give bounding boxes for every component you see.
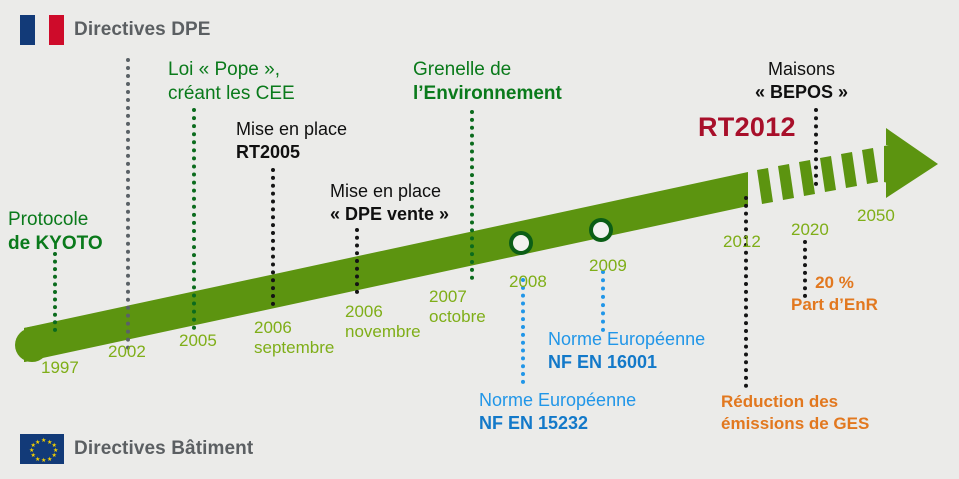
connector-2002 xyxy=(126,58,130,350)
note-nf-en-16001-line1: Norme Européenne xyxy=(548,328,705,351)
year-label-2006-septembre-year: 2006 xyxy=(254,318,292,337)
note-dpe-vente-line1: Mise en place xyxy=(330,180,449,203)
note-reduction-ges-line1: Réduction des xyxy=(721,391,869,413)
year-label-2050: 2050 xyxy=(857,206,895,226)
connector-2006-novembre xyxy=(355,228,359,294)
note-loi-pope: Loi « Pope », créant les CEE xyxy=(168,58,295,107)
connector-2007-octobre xyxy=(470,110,474,280)
note-loi-pope-line2: créant les CEE xyxy=(168,82,295,106)
legend-batiment: ★ ★ ★ ★ ★ ★ ★ ★ ★ ★ ★ ★ Directives Bâtim… xyxy=(20,434,253,464)
note-kyoto-line2: de KYOTO xyxy=(8,232,103,256)
year-label-2006-novembre-month: novembre xyxy=(345,322,421,342)
note-reduction-ges: Réduction des émissions de GES xyxy=(721,391,869,435)
timeline-marker-2008 xyxy=(509,231,533,255)
year-label-2006-novembre-year: 2006 xyxy=(345,302,383,321)
note-loi-pope-line1: Loi « Pope », xyxy=(168,58,295,82)
connector-2012 xyxy=(744,196,748,388)
year-label-2006-septembre-month: septembre xyxy=(254,338,334,358)
note-part-enr-line1: 20 % xyxy=(791,272,878,294)
year-label-2006-septembre: 2006 septembre xyxy=(254,318,334,359)
connector-1997 xyxy=(53,252,57,332)
note-bepos: Maisons « BEPOS » xyxy=(755,58,848,104)
note-nf-en-16001: Norme Européenne NF EN 16001 xyxy=(548,328,705,374)
note-part-enr: 20 % Part d’EnR xyxy=(791,272,878,316)
note-nf-en-16001-line2: NF EN 16001 xyxy=(548,351,705,374)
connector-2006-septembre xyxy=(271,168,275,306)
year-label-2007-octobre: 2007 octobre xyxy=(429,287,486,328)
note-rt2005-line2: RT2005 xyxy=(236,141,347,164)
note-grenelle-line1: Grenelle de xyxy=(413,58,562,82)
note-bepos-line2: « BEPOS » xyxy=(755,81,848,104)
note-grenelle: Grenelle de l’Environnement xyxy=(413,58,562,107)
legend-dpe-label: Directives DPE xyxy=(74,19,211,41)
note-nf-en-15232: Norme Européenne NF EN 15232 xyxy=(479,389,636,435)
fr-flag-icon xyxy=(20,15,64,45)
note-grenelle-line2: l’Environnement xyxy=(413,82,562,106)
year-label-2008: 2008 xyxy=(509,272,547,292)
year-label-2020: 2020 xyxy=(791,220,829,240)
eu-flag-icon: ★ ★ ★ ★ ★ ★ ★ ★ ★ ★ ★ ★ xyxy=(20,434,64,464)
year-label-1997: 1997 xyxy=(41,358,79,378)
year-label-2007-octobre-month: octobre xyxy=(429,307,486,327)
note-kyoto-line1: Protocole xyxy=(8,208,103,232)
year-label-2012: 2012 xyxy=(723,232,761,252)
legend-batiment-label: Directives Bâtiment xyxy=(74,438,253,460)
note-dpe-vente: Mise en place « DPE vente » xyxy=(330,180,449,226)
note-part-enr-line2: Part d’EnR xyxy=(791,294,878,316)
year-label-2007-octobre-year: 2007 xyxy=(429,287,467,306)
note-rt2005-line1: Mise en place xyxy=(236,118,347,141)
note-nf-en-15232-line2: NF EN 15232 xyxy=(479,412,636,435)
year-label-2005: 2005 xyxy=(179,331,217,351)
connector-2020-top xyxy=(814,108,818,186)
note-nf-en-15232-line1: Norme Européenne xyxy=(479,389,636,412)
note-dpe-vente-line2: « DPE vente » xyxy=(330,203,449,226)
year-label-2002: 2002 xyxy=(108,342,146,362)
legend-dpe: Directives DPE xyxy=(20,15,211,45)
note-bepos-line1: Maisons xyxy=(755,58,848,81)
connector-2009 xyxy=(601,270,605,332)
connector-2005 xyxy=(192,108,196,330)
timeline-marker-2009 xyxy=(589,218,613,242)
note-rt2012: RT2012 xyxy=(698,112,796,143)
year-label-2009: 2009 xyxy=(589,256,627,276)
note-rt2005: Mise en place RT2005 xyxy=(236,118,347,164)
note-kyoto: Protocole de KYOTO xyxy=(8,208,103,257)
note-reduction-ges-line2: émissions de GES xyxy=(721,413,869,435)
connector-2008 xyxy=(521,278,525,384)
infographic-canvas: Directives DPE ★ ★ ★ ★ ★ ★ ★ ★ ★ ★ ★ ★ D… xyxy=(0,0,959,479)
year-label-2006-novembre: 2006 novembre xyxy=(345,302,421,343)
